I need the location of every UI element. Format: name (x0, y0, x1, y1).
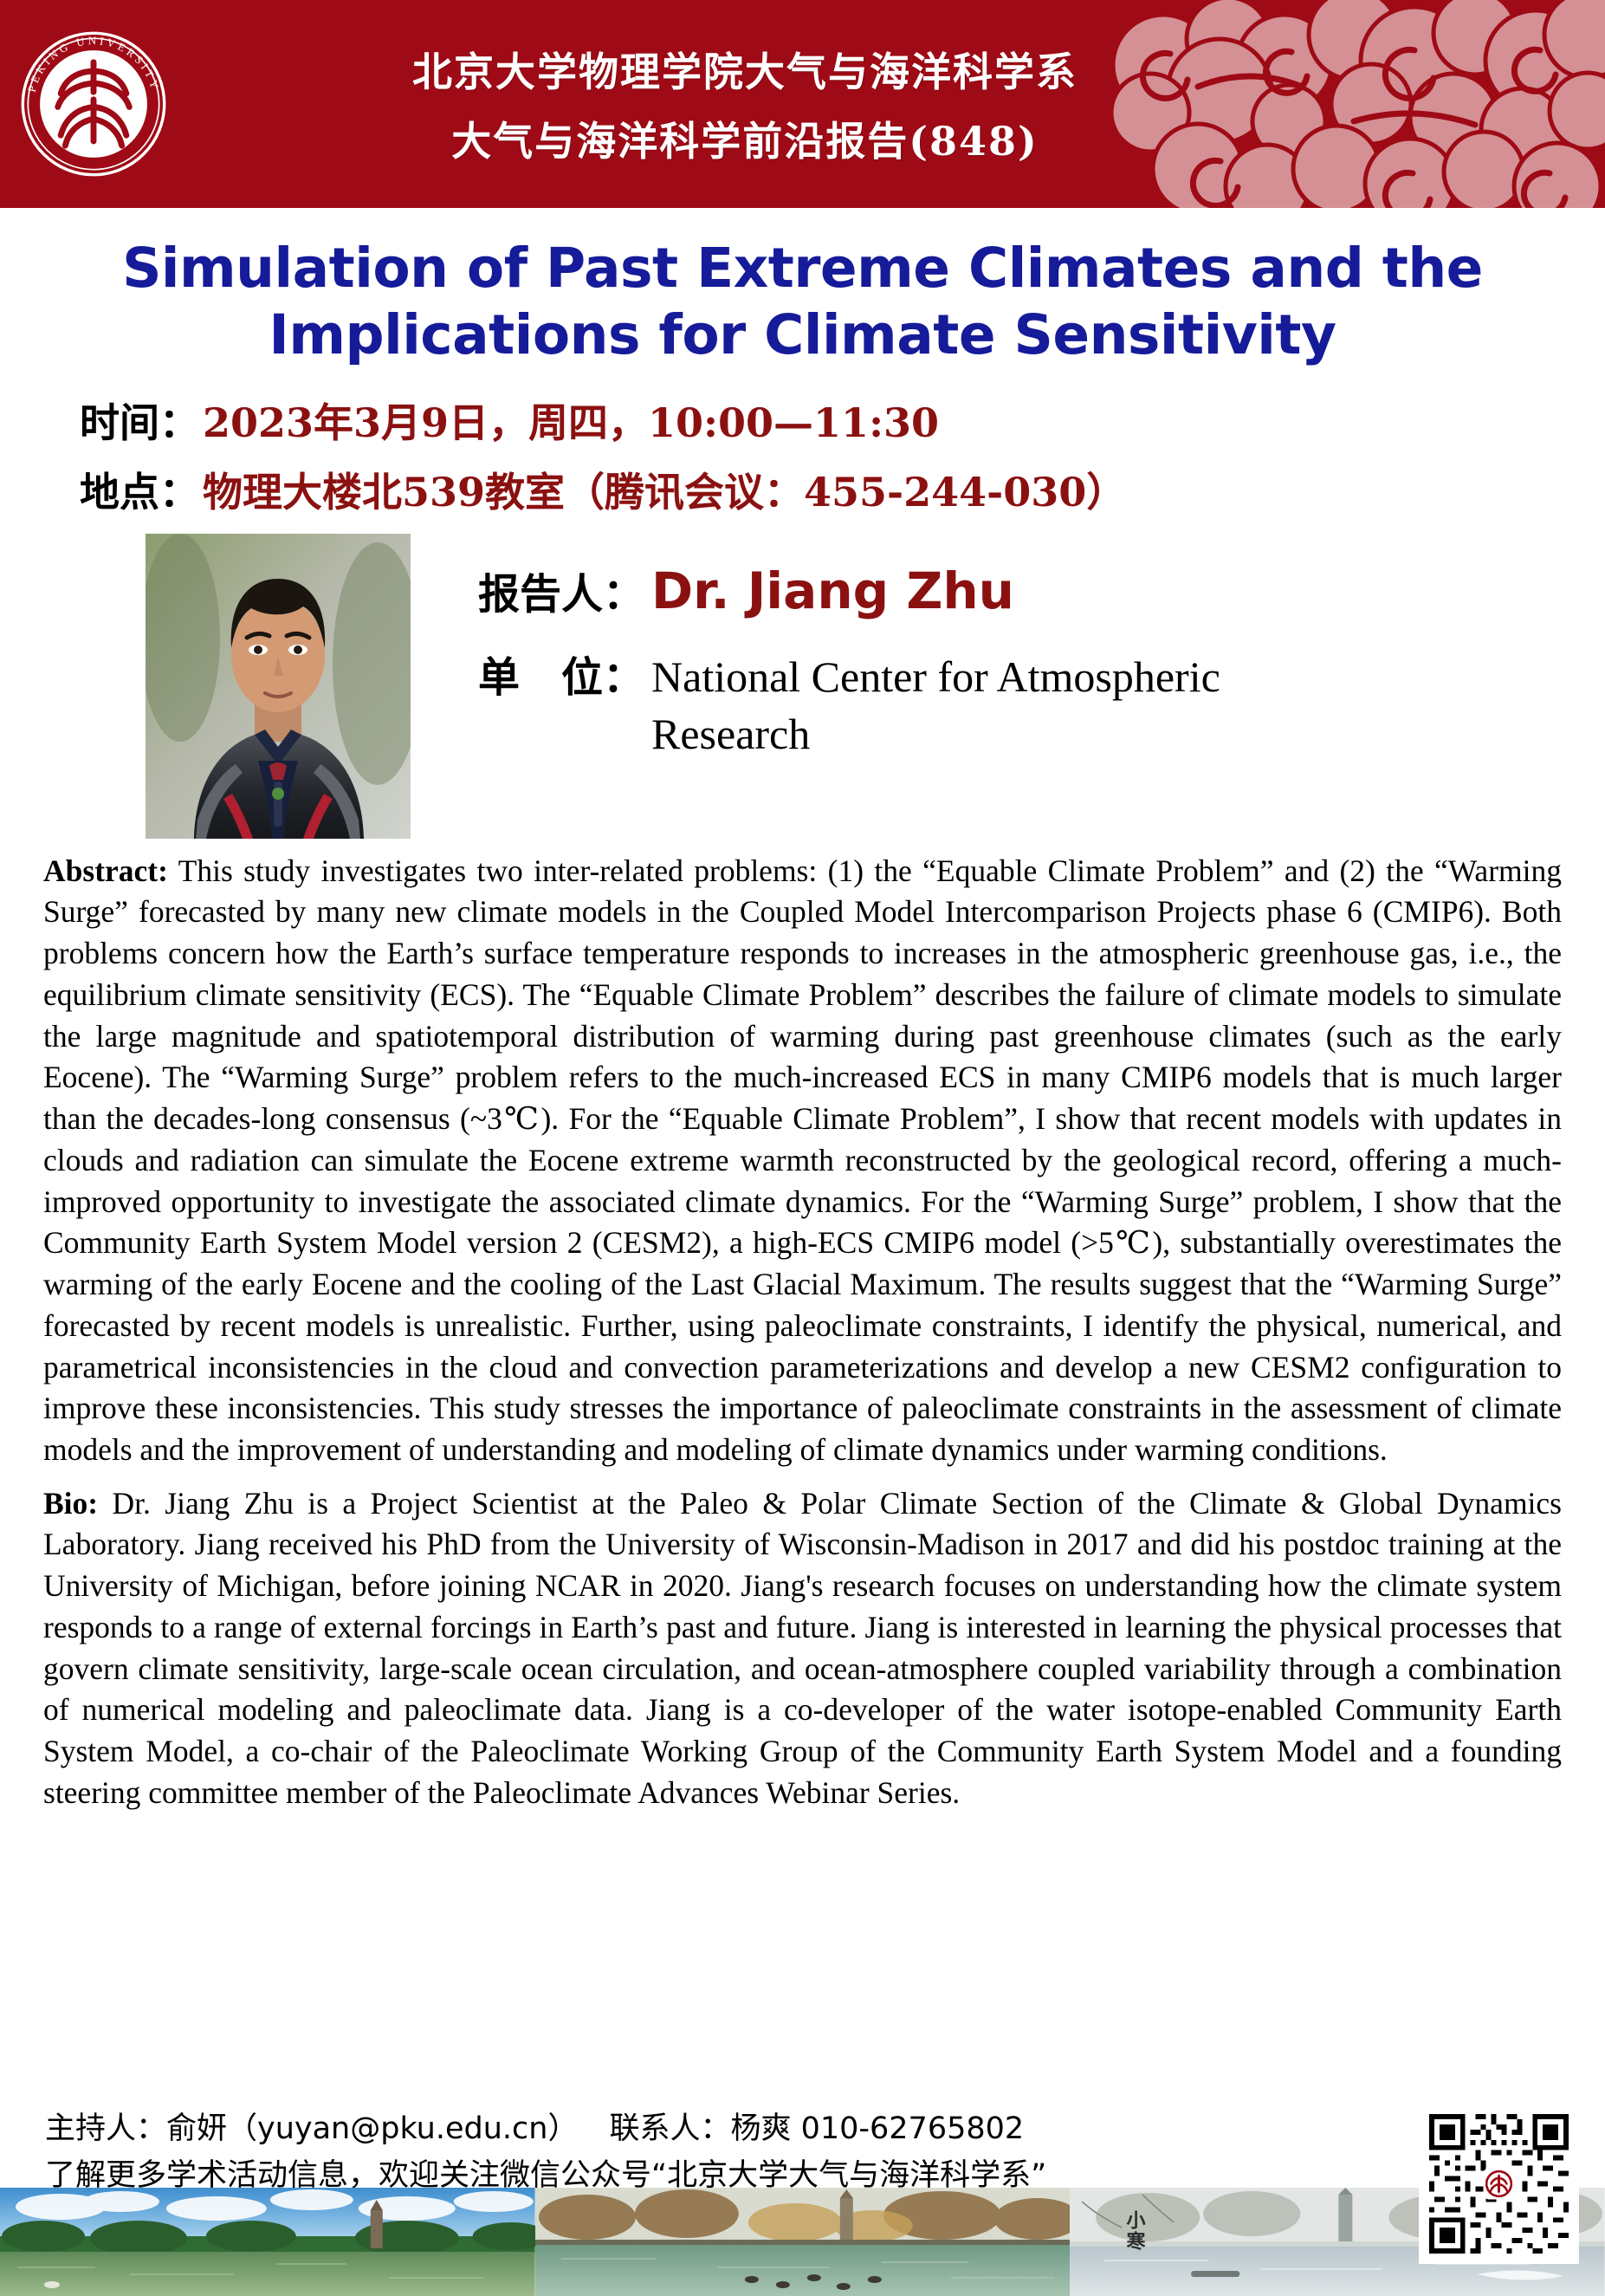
speaker-section: 报告人： Dr. Jiang Zhu 单 位： National Center … (0, 534, 1605, 839)
abstract-heading: Abstract: (43, 853, 168, 888)
time-value: 2023年3月9日，周四，10:00—11:30 (203, 392, 939, 449)
event-place-row: 地点： 物理大楼北539教室（腾讯会议：455-244-030） (80, 461, 1605, 518)
event-time-row: 时间： 2023年3月9日，周四，10:00—11:30 (80, 392, 1605, 449)
footer: 主持人：俞妍（yuyan@pku.edu.cn）联系人：杨爽 010-62765… (0, 2086, 1605, 2296)
speaker-photo (146, 534, 411, 839)
speaker-name: Dr. Jiang Zhu (651, 561, 1014, 620)
talk-title: Simulation of Past Extreme Climates and … (52, 236, 1553, 369)
place-value: 物理大楼北539教室（腾讯会议：455-244-030） (203, 461, 1126, 518)
banner-title-group: 北京大学物理学院大气与海洋科学系 大气与海洋科学前沿报告(848) (286, 0, 1204, 208)
time-label: 时间： (80, 392, 199, 449)
peking-university-logo-icon: PEKING UNIVERSITY 1898 (19, 5, 168, 203)
place-label: 地点： (80, 461, 199, 518)
bio-heading: Bio: (43, 1486, 98, 1521)
bio-body: Dr. Jiang Zhu is a Project Scientist at … (43, 1486, 1562, 1810)
footer-host-row: 主持人：俞妍（yuyan@pku.edu.cn）联系人：杨爽 010-62765… (45, 2105, 1046, 2152)
footer-contact-block: 主持人：俞妍（yuyan@pku.edu.cn）联系人：杨爽 010-62765… (45, 2105, 1046, 2200)
speaker-label: 报告人： (478, 560, 644, 620)
season-photo-summer (0, 2188, 535, 2296)
banner-series-line: 大气与海洋科学前沿报告(848) (451, 110, 1039, 167)
banner-dept-line: 北京大学物理学院大气与海洋科学系 (412, 41, 1078, 98)
speaker-details: 报告人： Dr. Jiang Zhu 单 位： National Center … (478, 534, 1605, 839)
abstract-body: This study investigates two inter-relate… (43, 853, 1562, 1467)
affiliation-value: National Center for Atmospheric Research (651, 648, 1379, 762)
host-line: 主持人：俞妍（yuyan@pku.edu.cn） (45, 2111, 578, 2146)
bio-paragraph: Bio: Dr. Jiang Zhu is a Project Scientis… (43, 1483, 1562, 1814)
speaker-name-row: 报告人： Dr. Jiang Zhu (478, 560, 1605, 620)
header-banner: PEKING UNIVERSITY 1898 北京大学物理学院大气与海洋科学系 … (0, 0, 1605, 208)
wechat-qr-code[interactable] (1419, 2104, 1579, 2264)
season-photo-autumn (535, 2188, 1071, 2296)
contact-line: 联系人：杨爽 010-62765802 (609, 2111, 1024, 2146)
speaker-affiliation-row: 单 位： National Center for Atmospheric Res… (478, 643, 1605, 762)
event-meta: 时间： 2023年3月9日，周四，10:00—11:30 地点： 物理大楼北53… (80, 392, 1605, 518)
body-text: Abstract: This study investigates two in… (43, 851, 1562, 1814)
abstract-paragraph: Abstract: This study investigates two in… (43, 851, 1562, 1471)
campus-season-photos: 小寒 (0, 2188, 1605, 2296)
affiliation-label: 单 位： (478, 643, 644, 704)
season-caption: 小寒 (1123, 2210, 1144, 2252)
